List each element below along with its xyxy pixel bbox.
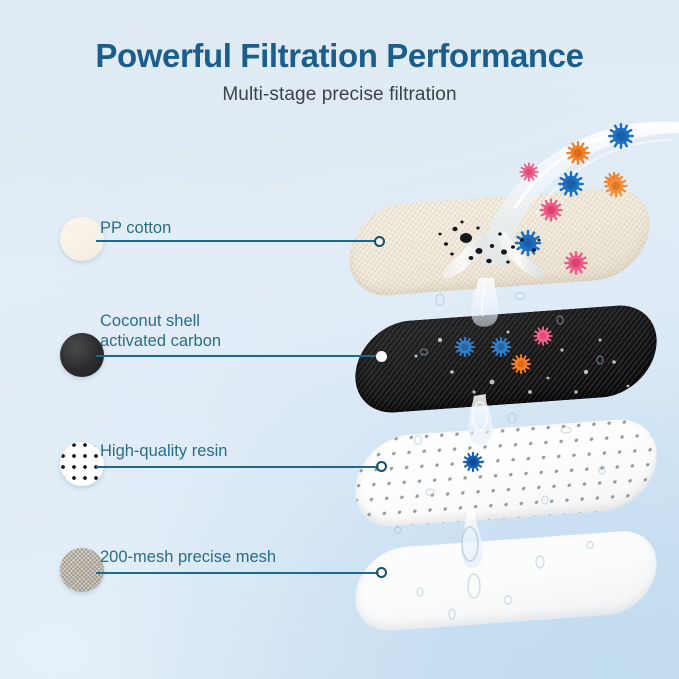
lead-endpoint-dot bbox=[376, 567, 387, 578]
layer-surface bbox=[349, 528, 662, 633]
filter-layer-pp-cotton bbox=[352, 196, 647, 288]
callout-label-line1: PP cotton bbox=[100, 219, 171, 237]
filter-layer-mesh bbox=[358, 539, 654, 623]
layer-surface bbox=[349, 302, 664, 415]
virus-orange-2 bbox=[567, 142, 589, 164]
mesh-swatch-icon bbox=[60, 548, 104, 592]
resin-swatch-icon bbox=[60, 442, 104, 486]
page-title: Powerful Filtration Performance bbox=[0, 38, 679, 75]
lead-endpoint-dot bbox=[376, 461, 387, 472]
lead-line bbox=[96, 240, 375, 242]
lead-endpoint-dot bbox=[376, 351, 387, 362]
pp-cotton-swatch-icon bbox=[60, 217, 104, 261]
filter-layer-activated-carbon bbox=[358, 313, 654, 405]
layer-surface bbox=[343, 185, 657, 298]
callout-label-pp-cotton: PP cotton bbox=[100, 218, 171, 238]
filtration-infographic: Powerful Filtration Performance Multi-st… bbox=[0, 0, 679, 679]
callout-label-line1: Coconut shell bbox=[100, 311, 221, 331]
callout-label-mesh: 200-mesh precise mesh bbox=[100, 547, 276, 567]
callout-label-line1: 200-mesh precise mesh bbox=[100, 548, 276, 566]
callout-label-activated-carbon: Coconut shell activated carbon bbox=[100, 311, 221, 351]
lead-line bbox=[96, 355, 380, 357]
page-subtitle: Multi-stage precise filtration bbox=[0, 84, 679, 106]
callout-label-line1: High-quality resin bbox=[100, 442, 227, 460]
lead-line bbox=[96, 572, 379, 574]
virus-pink-4 bbox=[520, 163, 537, 180]
callout-label-line2: activated carbon bbox=[100, 331, 221, 351]
layer-surface bbox=[349, 416, 664, 529]
lead-line bbox=[96, 466, 379, 468]
lead-endpoint-dot bbox=[374, 236, 385, 247]
header: Powerful Filtration Performance Multi-st… bbox=[0, 0, 679, 106]
virus-blue-1 bbox=[609, 124, 632, 147]
filter-layer-resin bbox=[358, 427, 654, 519]
callout-label-resin: High-quality resin bbox=[100, 441, 227, 461]
